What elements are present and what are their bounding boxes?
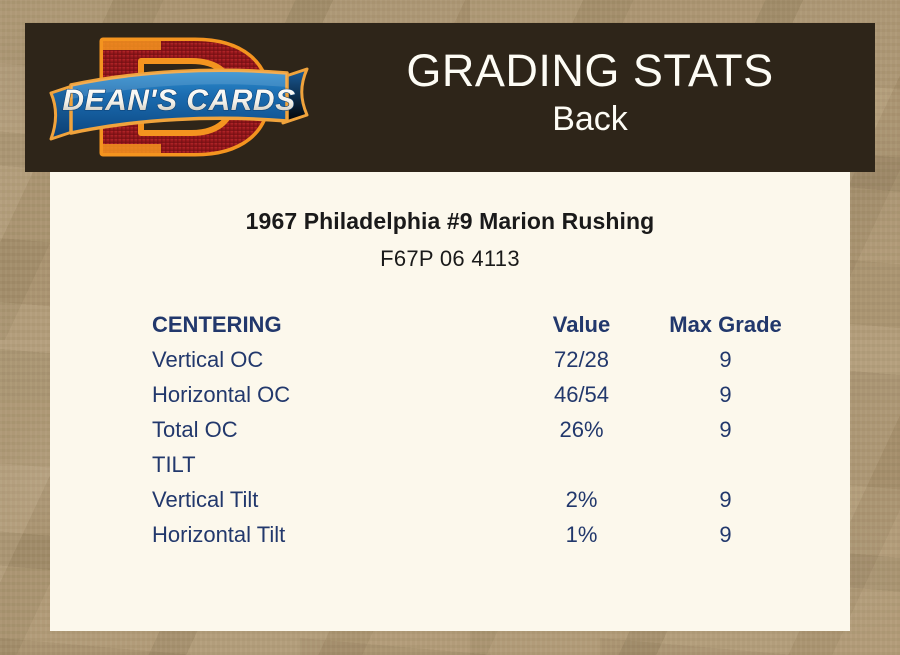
row-value: 2% <box>509 482 654 517</box>
page-title: GRADING STATS <box>325 47 855 94</box>
row-label: Horizontal Tilt <box>152 517 509 552</box>
row-label: Total OC <box>152 412 509 447</box>
table-row: Vertical Tilt 2% 9 <box>152 482 797 517</box>
row-label: Horizontal OC <box>152 377 509 412</box>
stats-table-head: CENTERING Value Max Grade <box>152 307 797 342</box>
deans-cards-logo[interactable]: DEAN'S CARDS <box>45 27 315 167</box>
card-code: F67P 06 4113 <box>50 246 850 272</box>
grading-stats-table: CENTERING Value Max Grade Vertical OC 72… <box>152 307 797 552</box>
header-bar: DEAN'S CARDS GRADING STATS Back <box>25 23 875 172</box>
table-row: Horizontal Tilt 1% 9 <box>152 517 797 552</box>
row-grade: 9 <box>654 482 797 517</box>
stats-table-body: Vertical OC 72/28 9 Horizontal OC 46/54 … <box>152 342 797 552</box>
row-value: 1% <box>509 517 654 552</box>
card-title: 1967 Philadelphia #9 Marion Rushing <box>50 208 850 235</box>
column-header-centering: CENTERING <box>152 307 509 342</box>
column-header-value: Value <box>509 307 654 342</box>
table-row: Horizontal OC 46/54 9 <box>152 377 797 412</box>
stats-header-row: CENTERING Value Max Grade <box>152 307 797 342</box>
row-grade: 9 <box>654 377 797 412</box>
table-row: Vertical OC 72/28 9 <box>152 342 797 377</box>
logo-banner-text: DEAN'S CARDS <box>62 84 295 117</box>
row-value: 26% <box>509 412 654 447</box>
section-header-tilt: TILT <box>152 447 797 482</box>
section-spacer-value <box>509 447 654 482</box>
row-value: 46/54 <box>509 377 654 412</box>
header-title-group: GRADING STATS Back <box>325 47 855 141</box>
content-panel: 1967 Philadelphia #9 Marion Rushing F67P… <box>50 172 850 631</box>
row-grade: 9 <box>654 342 797 377</box>
row-label: Vertical OC <box>152 342 509 377</box>
page-subtitle: Back <box>325 98 855 141</box>
row-value: 72/28 <box>509 342 654 377</box>
column-header-max-grade: Max Grade <box>654 307 797 342</box>
table-row: Total OC 26% 9 <box>152 412 797 447</box>
row-grade: 9 <box>654 412 797 447</box>
section-label: TILT <box>152 447 509 482</box>
row-grade: 9 <box>654 517 797 552</box>
row-label: Vertical Tilt <box>152 482 509 517</box>
section-spacer-grade <box>654 447 797 482</box>
